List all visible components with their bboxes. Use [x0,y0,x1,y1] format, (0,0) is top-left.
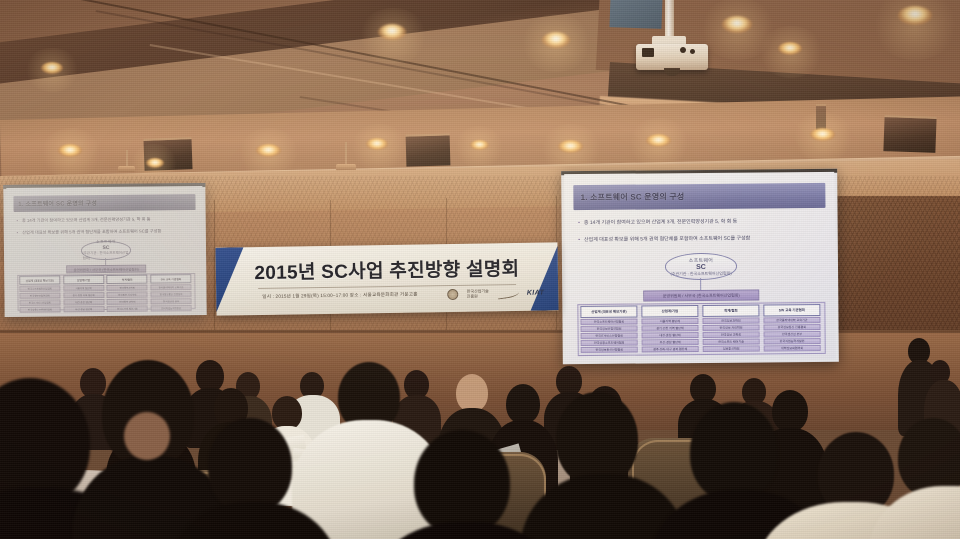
org-column: 학계/협회한국정보과학회한국정보 처리학회한국정보 과학회한국소프트 웨어기술정… [107,275,149,307]
org-cell: 한국소프트 웨어기술 [702,339,759,346]
slide-connector-right [700,278,701,290]
ceiling-downlight-14 [470,140,489,150]
ceiling-downlight-13 [146,158,164,168]
slide-org-table-left: 산업계 (대표성 확보기관)한국소프트웨어산업협회한국정보산업연합회한국IT서비… [19,274,192,307]
org-cell: 정보통신학회 [702,346,759,353]
org-cell: 한국정보 처리학회 [107,292,148,298]
ceiling-downlight-1 [41,62,63,74]
org-column-header: 산업계/기업 [641,305,698,318]
projector-knob-1 [680,47,686,53]
org-column-header: 산업계 (대표성 확보기관) [19,276,60,285]
org-cell: 대학정보화협의회 [151,312,192,314]
projector-vent [642,48,654,57]
org-cell: 한국IT서비스산업협회 [580,333,637,340]
org-cell: 한국상용소프트웨어협회 [580,340,637,347]
slide-bullet-right-1: 총 14개 기관이 참여하고 있으며 산업계 3개, 전문인력양성기관 5, 학… [578,218,737,226]
pendant-fixture-2 [118,166,135,172]
org-column: SW 교육 기관협회한국폴리텍대학 교육기관한국정보통신 진흥협회한국생산성 본… [763,304,821,351]
org-cell: 한국소프트 웨어기술 [107,306,148,312]
org-cell: 광주·전라·대구 경북 협단체 [63,313,104,314]
ceiling-downlight-3 [542,32,570,48]
org-cell: 한국상용소프트웨어협회 [19,307,60,313]
slide-purple-bar-right: 운영위원회 / 사무국 (한국소프트웨어산업협회) [644,289,759,301]
org-column-header: 학계/협회 [107,275,148,284]
ceiling-downlight-12 [810,128,835,141]
ceiling-vent-right-edge [816,104,826,130]
org-cell: 한국정보산업연합회 [19,293,60,299]
ceiling-downlight-6 [778,42,802,55]
ceiling-downlight-4 [722,16,752,33]
ceiling-downlight-9 [366,138,388,150]
org-cell: 한국직업능력개발원 [151,305,192,311]
slide-bullet-left-1: 총 14개 기관이 참여하고 있으며 산업계 3개, 전문인력양성기관 5, 학… [16,217,150,224]
conference-hall-photo: 1. 소프트웨어 SC 운영의 구성 총 14개 기관이 참여하고 있으며 산업… [0,0,960,539]
slide-connector-left [105,258,106,266]
ceiling-downlight-8 [256,144,281,157]
org-column-header: 학계/협회 [702,304,759,317]
org-cell: 한국정보통신산업협회 [581,347,638,354]
org-cell: 한국IT서비스산업협회 [19,300,60,306]
org-column-header: 산업계 (대표성 확보기관) [580,305,637,318]
banner-logo-group: 한국산업기술 진흥원 KIAT [448,288,545,301]
slide-org-table-right: 산업계 (대표성 확보기관)한국소프트웨어산업협회한국정보산업연합회한국IT서비… [580,304,821,353]
ceiling-downlight-11 [646,134,671,147]
org-column: 산업계/기업서울지역 협단체경기·인천 지역 협단체대전·충청 협단체부산·경남… [641,305,699,352]
projection-screen-left[interactable]: 1. 소프트웨어 SC 운영의 구성 총 14개 기관이 참여하고 있으며 산업… [3,183,206,317]
org-cell: 한국정보통신 진흥협회 [150,291,191,297]
org-cell: 한국정보통신 진흥협회 [763,324,820,331]
org-cell: 대전·충청 협단체 [63,299,104,305]
org-cell: 한국생산성 본부 [151,298,192,304]
org-cell: 광주·전라·대구 경북 협단체 [642,346,699,353]
slide-content-right: 1. 소프트웨어 SC 운영의 구성 총 14개 기관이 참여하고 있으며 산업… [564,172,836,361]
slide-title-bar-left: 1. 소프트웨어 SC 운영의 구성 [13,194,195,212]
org-cell: 한국정보 처리학회 [702,325,759,332]
pendant-rod-1 [345,142,347,166]
org-cell: 한국소프트웨어산업협회 [580,319,637,326]
org-cell: 한국정보 과학회 [107,299,148,305]
projector-mount-pole [665,0,674,40]
banner-title: 2015년 SC사업 추진방향 설명회 [216,253,558,285]
org-cell: 한국정보 과학회 [702,332,759,339]
org-cell: 한국정보산업연합회 [580,326,637,333]
kiat-wordmark: KIAT [527,290,545,297]
slide-purple-bar-left: 운영위원회 / 사무국 (한국소프트웨어산업협회) [66,265,146,274]
org-cell: 경기·인천 지역 협단체 [641,325,698,332]
org-cell: 서울지역 협단체 [63,285,104,291]
ceiling-downlight-10 [558,140,583,153]
org-cell: 한국폴리텍대학 교육기관 [763,317,820,324]
org-cell: 한국정보과학회 [702,318,759,325]
swoosh-icon [496,288,519,299]
slide-bullet-right-2: 산업계 대표성 확보를 위해 5개 권역 협단체를 포함하여 소프트웨어 SC를… [578,234,750,243]
org-cell: 대전·충청 협단체 [641,332,698,339]
ceiling-vent-right [883,115,936,153]
ceiling-downlight-5 [898,6,932,25]
event-banner: 2015년 SC사업 추진방향 설명회 일시 : 2015년 1월 29일(목)… [215,242,558,315]
face-fg-woman [124,412,170,460]
org-cell: 한국소프트웨어산업협회 [19,286,60,292]
sc-center-logo-right: 소프트웨어 SC (주관기관 : 한국소프트웨어산업협회) [665,253,737,280]
kiat-emblem-icon [448,289,459,300]
org-cell: 부산·경남 협단체 [641,339,698,346]
org-cell: 한국생산성 본부 [763,331,820,338]
ceiling-downlight-7 [58,144,82,157]
org-column: 산업계/기업서울지역 협단체경기·인천 지역 협단체대전·충청 협단체부산·경남… [63,275,105,307]
org-cell: 서울지역 협단체 [641,318,698,325]
org-column: 산업계 (대표성 확보기관)한국소프트웨어산업협회한국정보산업연합회한국IT서비… [19,276,61,308]
org-cell: 한국정보과학회 [107,285,148,291]
org-column-header: 산업계/기업 [63,275,104,284]
slide-content-left: 1. 소프트웨어 SC 운영의 구성 총 14개 기관이 참여하고 있으며 산업… [6,186,203,314]
org-column: 산업계 (대표성 확보기관)한국소프트웨어산업협회한국정보산업연합회한국IT서비… [580,305,638,352]
org-cell: 한국직업능력개발원 [763,338,820,345]
sponsor-logo-text: 한국산업기술 진흥원 [467,290,489,299]
org-column-header: SW 교육 기관협회 [763,304,820,317]
org-cell: 한국폴리텍대학 교육기관 [150,284,191,290]
slide-bullet-left-2: 산업계 대표성 확보를 위해 5개 권역 협단체를 포함하여 소프트웨어 SC를… [17,228,162,236]
ceiling-skylight-panel [609,0,662,29]
projection-screen-right[interactable]: 1. 소프트웨어 SC 운영의 구성 총 14개 기관이 참여하고 있으며 산업… [561,169,839,364]
org-cell: 대학정보화협의회 [763,345,820,352]
projector-knob-2 [690,49,695,54]
org-cell: 부산·경남 협단체 [63,306,104,312]
org-cell: 정보통신학회 [107,313,148,314]
org-column-header: SW 교육 기관협회 [150,274,191,283]
org-column: 학계/협회한국정보과학회한국정보 처리학회한국정보 과학회한국소프트 웨어기술정… [702,304,760,351]
org-cell: 경기·인천 지역 협단체 [63,292,104,298]
ceiling-downlight-2 [378,24,406,40]
banner-subtitle: 일시 : 2015년 1월 29일(목) 15:00~17:00 장소 : 서울… [262,292,417,300]
org-column: SW 교육 기관협회한국폴리텍대학 교육기관한국정보통신 진흥협회한국생산성 본… [150,274,192,306]
slide-title-bar-right: 1. 소프트웨어 SC 운영의 구성 [574,183,825,209]
ceiling-speaker-center [406,133,451,166]
